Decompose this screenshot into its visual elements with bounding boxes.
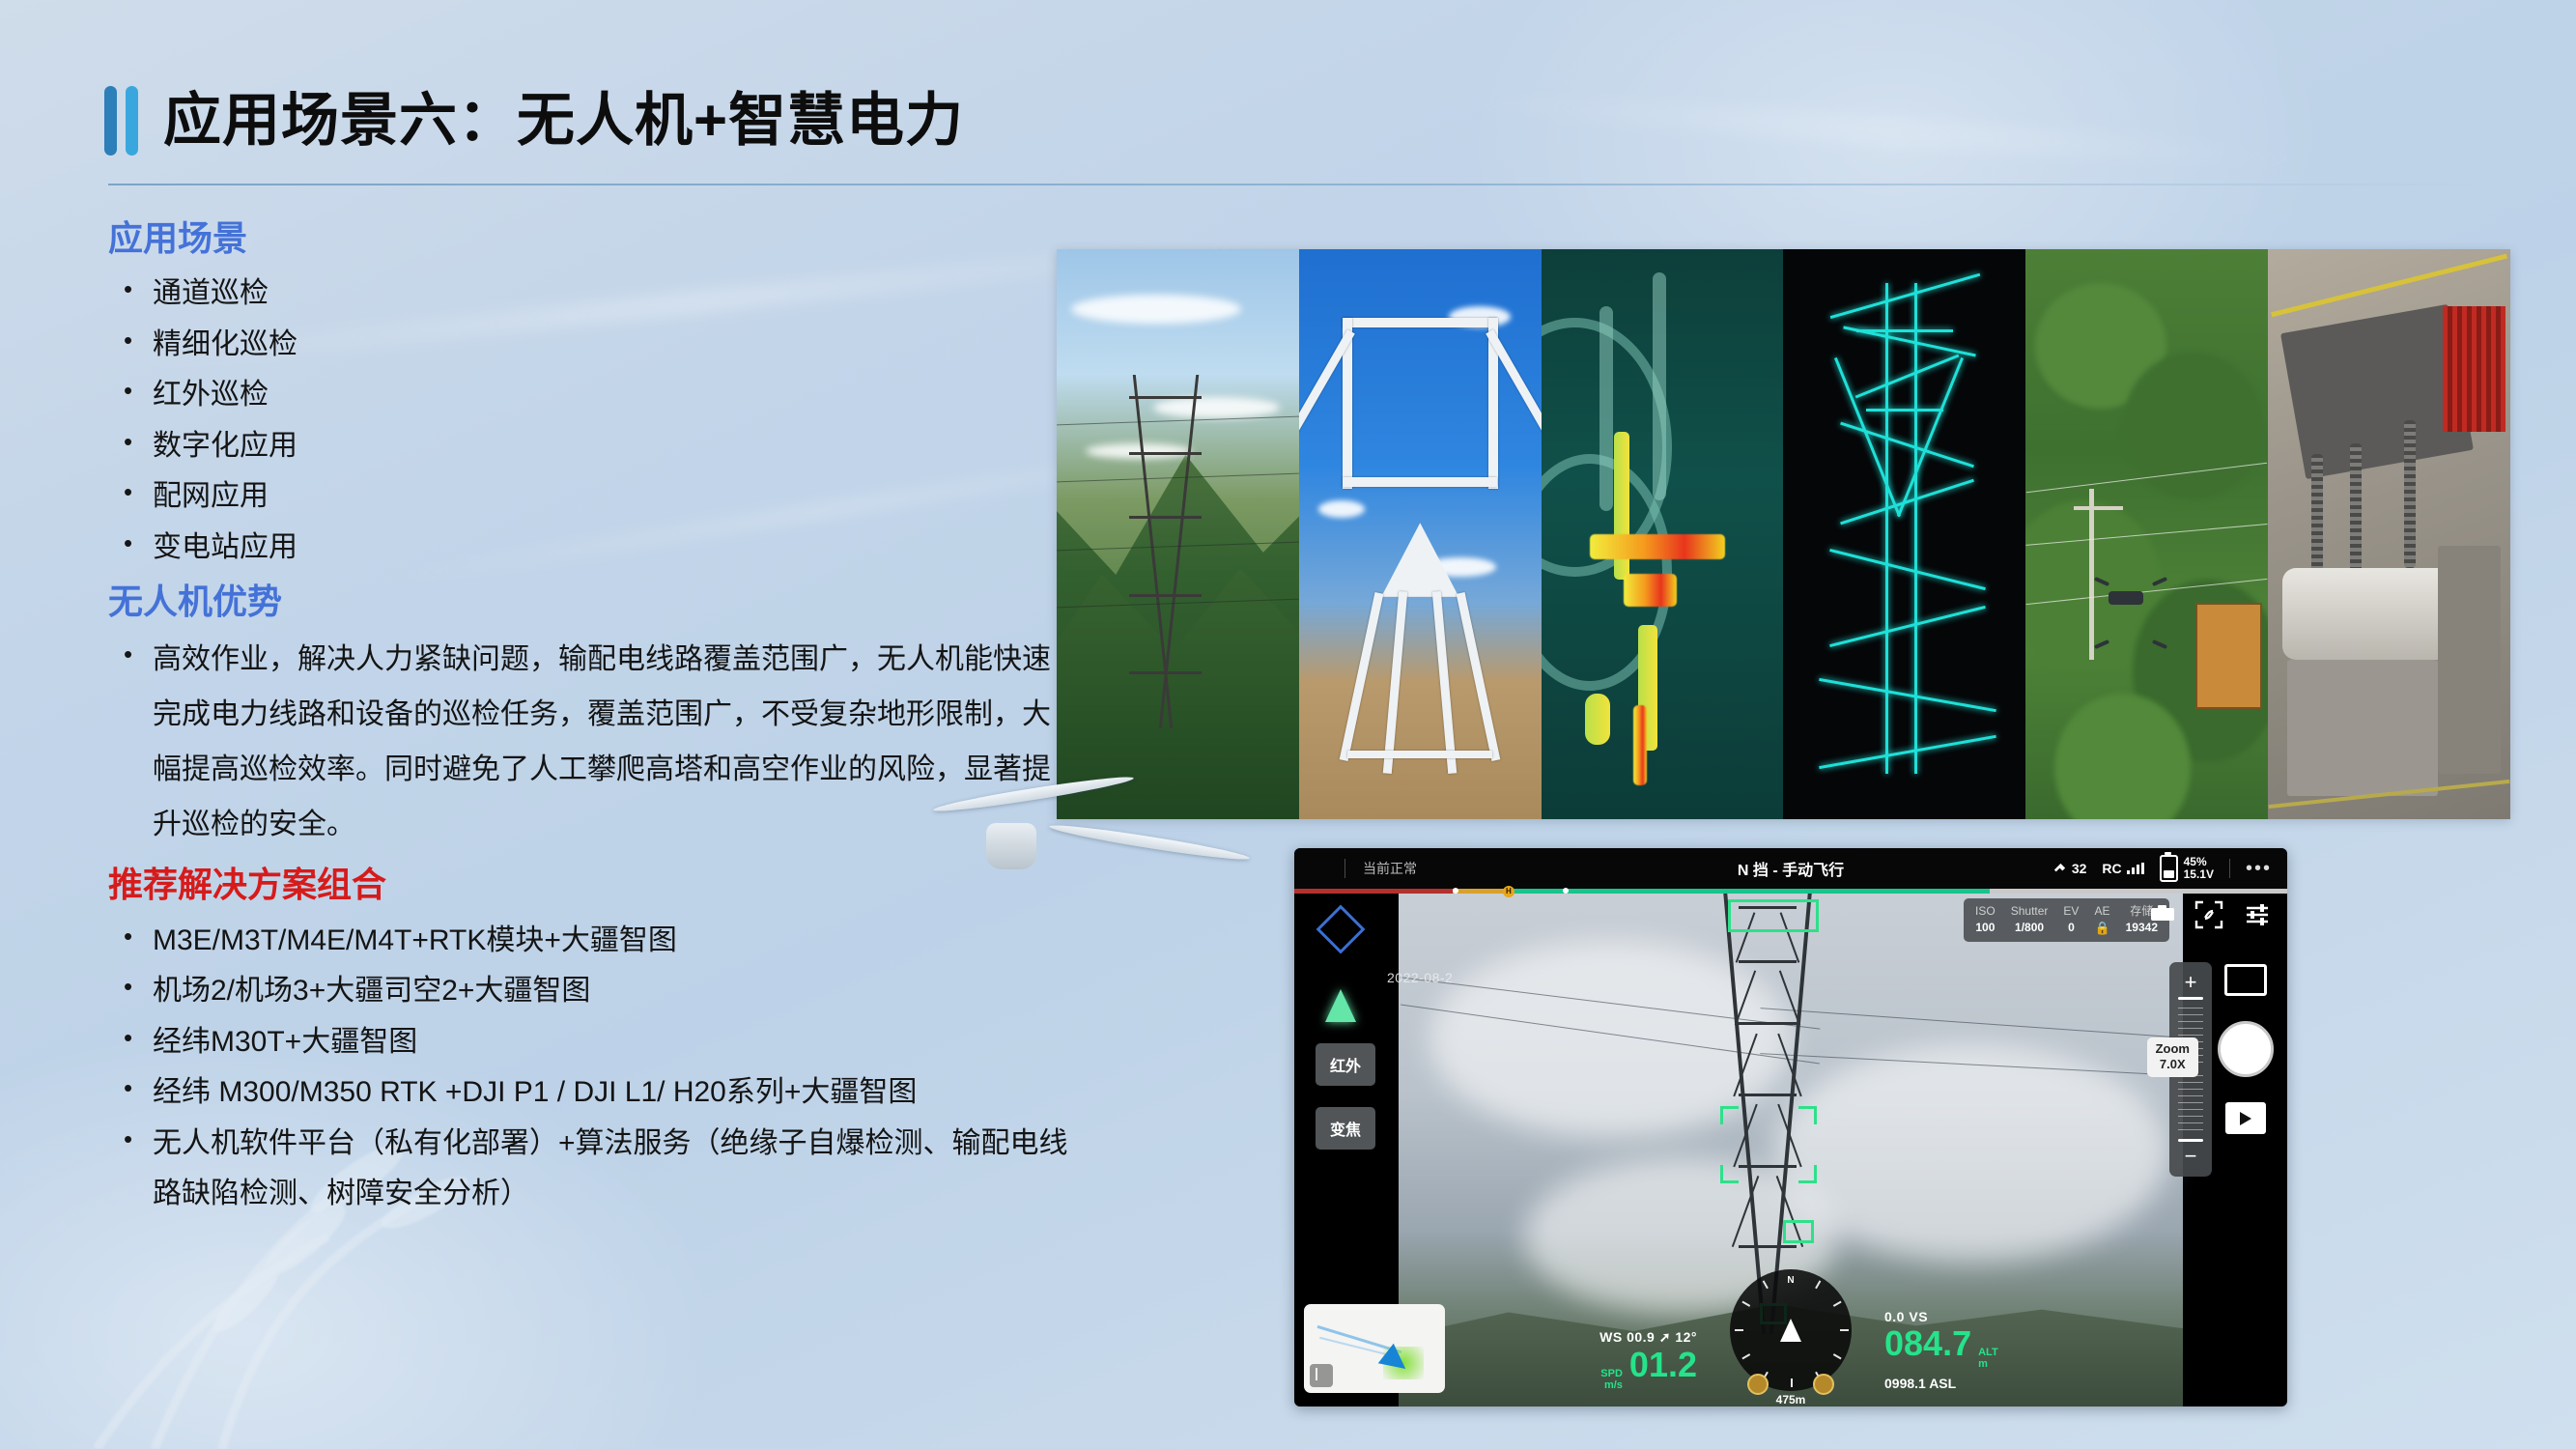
lock-icon: 🔒: [2094, 920, 2109, 937]
photo-drone-over-distribution-line: [2025, 249, 2268, 819]
divider: [2229, 859, 2230, 878]
gauge-marker-dot: [1563, 888, 1569, 894]
list-item: 经纬 M300/M350 RTK +DJI P1 / DJI L1/ H20系列…: [108, 1067, 1074, 1119]
speed-unit: SPD m/s: [1600, 1368, 1623, 1391]
compass-north-label: N: [1787, 1275, 1794, 1286]
list-item: 高效作业，解决人力紧缺问题，输配电线路覆盖范围广，无人机能快速完成电力线路和设备…: [108, 632, 1074, 852]
page-title: 应用场景六：无人机+智慧电力: [163, 92, 964, 150]
distance-readout: 475m: [1776, 1393, 1806, 1406]
vs-value: 0.0: [1884, 1309, 1905, 1324]
battery-gauge-bar: [1294, 889, 2287, 894]
camera-icon: [2150, 904, 2175, 922]
spd-unit: m/s: [1604, 1379, 1623, 1391]
wind-arrow-icon: ➚: [1659, 1329, 1671, 1345]
list-item: 机场2/机场3+大疆司空2+大疆智图: [108, 966, 1074, 1017]
battery-percent: 45%: [2184, 855, 2207, 868]
list-item: 精细化巡检: [108, 320, 1074, 371]
satellite-icon: [2052, 862, 2067, 876]
camera-setting-ae[interactable]: AE 🔒: [2094, 903, 2109, 937]
altitude-unit: ALT m: [1978, 1347, 1998, 1370]
alt-label: ALT: [1978, 1347, 1998, 1358]
compass-widget[interactable]: N: [1730, 1269, 1852, 1391]
telemetry-right: 0.0 VS 084.7 ALT m 0998.1 ASL: [1859, 1309, 2174, 1391]
camera-settings-bar[interactable]: ISO 100 Shutter 1/800 EV 0 AE 🔒 存储 19342: [1964, 898, 2169, 942]
wind-readout: WS 00.9 ➚ 12°: [1407, 1329, 1697, 1346]
ai-detection-box-top: [1728, 899, 1819, 932]
list-item: M3E/M3T/M4E/M4T+RTK模块+大疆智图: [108, 916, 1074, 967]
scenario-list: 通道巡检 精细化巡检 红外巡检 数字化应用 配网应用 变电站应用: [108, 269, 1074, 573]
section-heading-advantages: 无人机优势: [108, 581, 1074, 622]
list-item: 数字化应用: [108, 421, 1074, 472]
wind-angle: 12°: [1675, 1329, 1697, 1345]
slide-header: 应用场景六：无人机+智慧电力: [104, 53, 964, 188]
wind-speed: 00.9: [1627, 1329, 1655, 1345]
altitude-value: 084.7: [1884, 1326, 1971, 1361]
list-item: 经纬M30T+大疆智图: [108, 1017, 1074, 1068]
zoom-out-button[interactable]: −: [2185, 1144, 2197, 1169]
camera-setting-iso[interactable]: ISO 100: [1975, 903, 1996, 937]
title-accent-bars: [104, 86, 138, 156]
photo-steel-tower-closeup: [1299, 249, 1542, 819]
infrared-button[interactable]: 红外: [1316, 1043, 1375, 1086]
speed-readout: SPD m/s 01.2: [1407, 1348, 1697, 1391]
zoom-level-badge: Zoom 7.0X: [2147, 1037, 2198, 1077]
flight-mode-label: N 挡 - 手动飞行: [1738, 857, 1844, 880]
ae-label: AE: [2094, 903, 2109, 920]
sliders-icon: [2245, 902, 2270, 925]
content-column: 应用场景 通道巡检 精细化巡检 红外巡检 数字化应用 配网应用 变电站应用 无人…: [108, 217, 1074, 1222]
zoom-tick: [2178, 997, 2203, 1000]
photo-transmission-tower-mountain: [1057, 249, 1299, 819]
diamond-marker-icon: [1316, 905, 1366, 954]
divider: [1345, 859, 1345, 878]
list-item: 通道巡检: [108, 269, 1074, 320]
ai-detection-box-small: [1783, 1220, 1814, 1243]
satellite-count: 32: [2072, 861, 2087, 876]
photo-lidar-point-cloud-tower: [1783, 249, 2025, 819]
zoom-tick: [2178, 1139, 2203, 1142]
solution-list: M3E/M3T/M4E/M4T+RTK模块+大疆智图 机场2/机场3+大疆司空2…: [108, 916, 1074, 1220]
aircraft-marker-icon: [1780, 1319, 1801, 1342]
left-control-panel: 红外 变焦: [1306, 904, 1385, 1159]
section-heading-scenarios: 应用场景: [108, 217, 1074, 259]
signal-bars-icon: [2127, 863, 2144, 874]
ai-detection-box-center: [1720, 1106, 1817, 1183]
photo-substation-equipment: [2268, 249, 2510, 819]
telemetry-left: WS 00.9 ➚ 12° SPD m/s 01.2: [1407, 1329, 1722, 1391]
shutter-button[interactable]: [2218, 1021, 2274, 1077]
rc-label: RC: [2102, 861, 2121, 876]
shutter-value: 1/800: [2011, 920, 2049, 936]
shutter-label: Shutter: [2011, 903, 2049, 920]
telemetry-bar: WS 00.9 ➚ 12° SPD m/s 01.2 N: [1294, 1269, 2287, 1391]
camera-setting-shutter[interactable]: Shutter 1/800: [2011, 903, 2049, 937]
vertical-speed-readout: 0.0 VS: [1884, 1309, 2174, 1324]
video-timestamp: 2022-08-2: [1387, 970, 1453, 985]
zoom-label: Zoom: [2156, 1041, 2190, 1056]
ev-label: EV: [2063, 903, 2079, 920]
flight-status-text: 当前正常: [1363, 859, 1417, 878]
focus-link-icon: [2194, 900, 2223, 929]
list-item: 无人机软件平台（私有化部署）+算法服务（绝缘子自爆检测、输配电线路缺陷检测、树障…: [108, 1119, 1074, 1220]
camera-setting-ev[interactable]: EV 0: [2063, 903, 2079, 937]
more-options-button[interactable]: •••: [2246, 858, 2272, 880]
background-wisp-3: [1449, 86, 2318, 176]
ev-value: 0: [2063, 920, 2079, 936]
status-bar: chevron-left-icon 当前正常 N 挡 - 手动飞行 32 RC: [1294, 848, 2287, 889]
zoom-button[interactable]: 变焦: [1316, 1107, 1375, 1150]
wind-label: WS: [1599, 1329, 1623, 1345]
photo-thermal-infrared-inspection: [1542, 249, 1784, 819]
section-heading-solutions: 推荐解决方案组合: [108, 864, 1074, 905]
photo-strip: [1057, 249, 2510, 819]
list-item: 红外巡检: [108, 370, 1074, 421]
satellite-status: 32: [2052, 861, 2087, 876]
title-divider: [108, 184, 2479, 185]
rectangle-frame-icon[interactable]: [2224, 964, 2267, 996]
battery-readout: 45% 15.1V: [2184, 856, 2214, 881]
camera-mode-icon[interactable]: [2150, 904, 2175, 926]
list-item: 配网应用: [108, 471, 1074, 523]
speed-value: 01.2: [1629, 1348, 1697, 1382]
vs-label: VS: [1909, 1309, 1928, 1324]
gauge-home-marker: H: [1503, 886, 1514, 897]
alt-unit: m: [1978, 1358, 1988, 1370]
focus-link-button[interactable]: [2194, 900, 2223, 934]
battery-icon: [2160, 855, 2178, 882]
camera-settings-button[interactable]: [2245, 902, 2270, 930]
home-point-icon: [1747, 1374, 1769, 1395]
altitude-readout: 084.7 ALT m: [1884, 1326, 2174, 1370]
zoom-track-lower[interactable]: [2178, 1075, 2203, 1131]
zoom-value: 7.0X: [2160, 1057, 2186, 1071]
battery-voltage: 15.1V: [2184, 867, 2214, 881]
iso-label: ISO: [1975, 903, 1996, 920]
slide-root: 应用场景六：无人机+智慧电力 应用场景 通道巡检 精细化巡检 红外巡检 数字化应…: [0, 0, 2576, 1449]
rc-point-icon: [1813, 1374, 1834, 1395]
battery-status: 45% 15.1V: [2160, 855, 2214, 882]
rc-signal-status: RC: [2102, 861, 2143, 876]
list-item: 变电站应用: [108, 523, 1074, 574]
spd-label: SPD: [1600, 1368, 1623, 1379]
play-icon[interactable]: [2225, 1102, 2266, 1134]
capture-controls: [2220, 964, 2272, 1134]
zoom-in-button[interactable]: +: [2185, 970, 2197, 995]
asl-readout: 0998.1 ASL: [1884, 1376, 2174, 1391]
drone-controller-screen[interactable]: chevron-left-icon 当前正常 N 挡 - 手动飞行 32 RC: [1294, 848, 2287, 1406]
advantage-list: 高效作业，解决人力紧缺问题，输配电线路覆盖范围广，无人机能快速完成电力线路和设备…: [108, 632, 1074, 852]
heading-arrow-icon: [1325, 989, 1356, 1022]
iso-value: 100: [1975, 920, 1996, 936]
